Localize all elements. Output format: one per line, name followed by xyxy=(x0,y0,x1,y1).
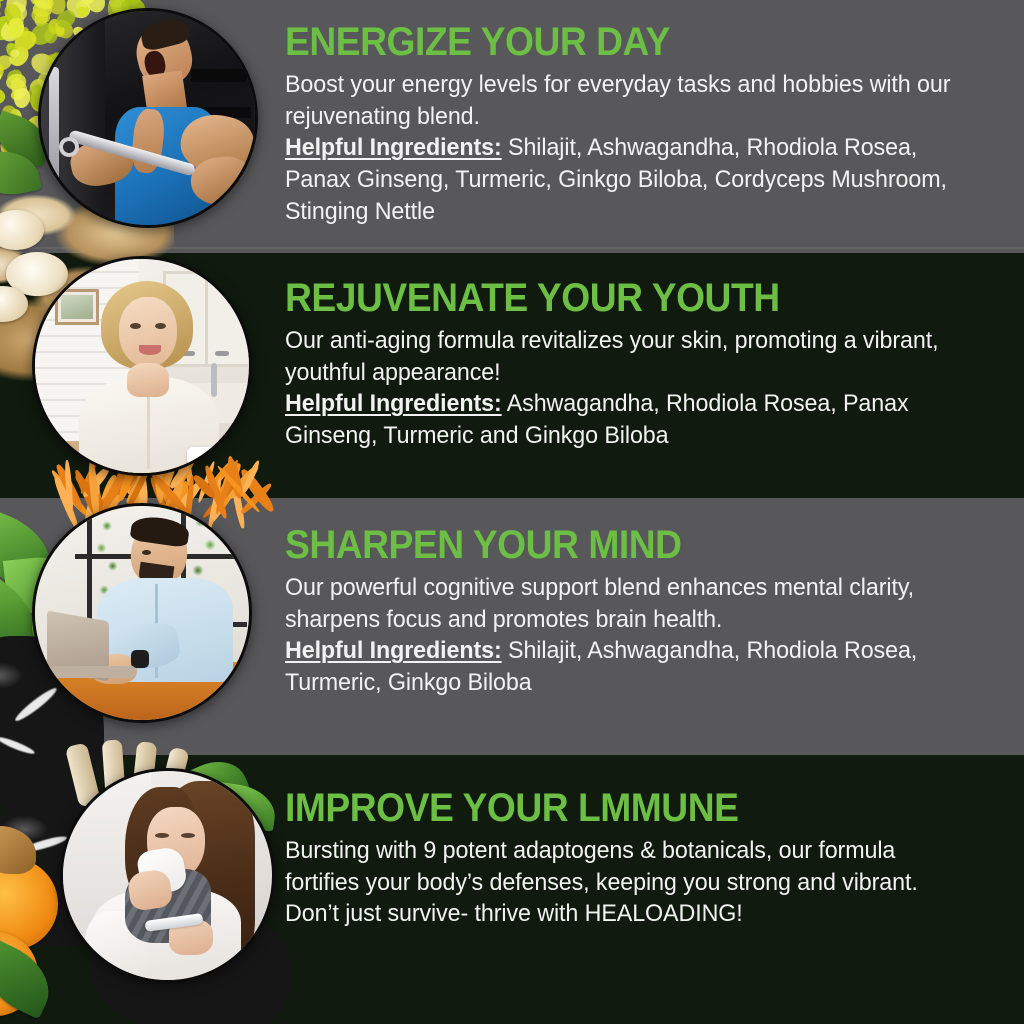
body-energize: Boost your energy levels for everyday ta… xyxy=(285,69,964,228)
photo-rejuvenate xyxy=(32,256,252,476)
closing-line: Don’t just survive- thrive with HEALOADI… xyxy=(285,898,964,930)
cabinet-divider xyxy=(205,271,208,367)
heading-sharpen: SHARPEN YOUR MIND xyxy=(285,525,950,566)
heading-rejuvenate: REJUVENATE YOUR YOUTH xyxy=(285,278,950,319)
body-rejuvenate: Our anti-aging formula revitalizes your … xyxy=(285,325,964,452)
eye xyxy=(142,550,151,555)
smile xyxy=(139,345,161,355)
photo-energize xyxy=(38,8,258,228)
section-immune-text: IMPROVE YOUR LMMUNE Bursting with 9 pote… xyxy=(285,788,1000,930)
body-immune: Bursting with 9 potent adaptogens & bota… xyxy=(285,835,964,931)
eye-right xyxy=(155,323,166,329)
section-energize-text: ENERGIZE YOUR DAY Boost your energy leve… xyxy=(285,22,1000,228)
face xyxy=(119,297,177,367)
body-text: Bursting with 9 potent adaptogens & bota… xyxy=(285,835,964,899)
photo-sharpen xyxy=(32,503,252,723)
infographic-poster: ENERGIZE YOUR DAY Boost your energy leve… xyxy=(0,0,1024,1024)
body-sharpen: Our powerful cognitive support blend enh… xyxy=(285,572,964,699)
ingredients-line: Helpful Ingredients: Shilajit, Ashwagand… xyxy=(285,635,964,699)
closed-eye xyxy=(155,833,169,838)
eye-left xyxy=(130,323,141,329)
ingredients-label: Helpful Ingredients: xyxy=(285,637,502,664)
clasped-hands xyxy=(127,363,169,397)
coffee-cup xyxy=(187,447,221,473)
ingredients-label: Helpful Ingredients: xyxy=(285,134,502,161)
section-rejuvenate-text: REJUVENATE YOUR YOUTH Our anti-aging for… xyxy=(285,278,1000,452)
flower-petal xyxy=(0,88,6,105)
faucet xyxy=(211,363,217,397)
photo-immune xyxy=(60,768,275,983)
ingredients-line: Helpful Ingredients: Shilajit, Ashwagand… xyxy=(285,132,964,228)
heading-immune: IMPROVE YOUR LMMUNE xyxy=(285,788,950,829)
wristwatch xyxy=(131,650,149,668)
ingredients-line: Helpful Ingredients: Ashwagandha, Rhodio… xyxy=(285,388,964,452)
picture-art xyxy=(61,295,93,319)
body-text: Our powerful cognitive support blend enh… xyxy=(285,572,964,636)
flower-petal xyxy=(14,88,30,108)
cable-machine-post xyxy=(49,67,59,207)
body-text: Our anti-aging formula revitalizes your … xyxy=(285,325,964,389)
section-sharpen-text: SHARPEN YOUR MIND Our powerful cognitive… xyxy=(285,525,1000,699)
cabinet-handle xyxy=(215,351,229,356)
laptop-base xyxy=(43,666,135,678)
closed-eye xyxy=(181,833,195,838)
gym-equipment xyxy=(191,69,247,82)
body-text: Boost your energy levels for everyday ta… xyxy=(285,69,964,133)
heading-energize: ENERGIZE YOUR DAY xyxy=(285,22,950,63)
ingredients-label: Helpful Ingredients: xyxy=(285,390,502,417)
